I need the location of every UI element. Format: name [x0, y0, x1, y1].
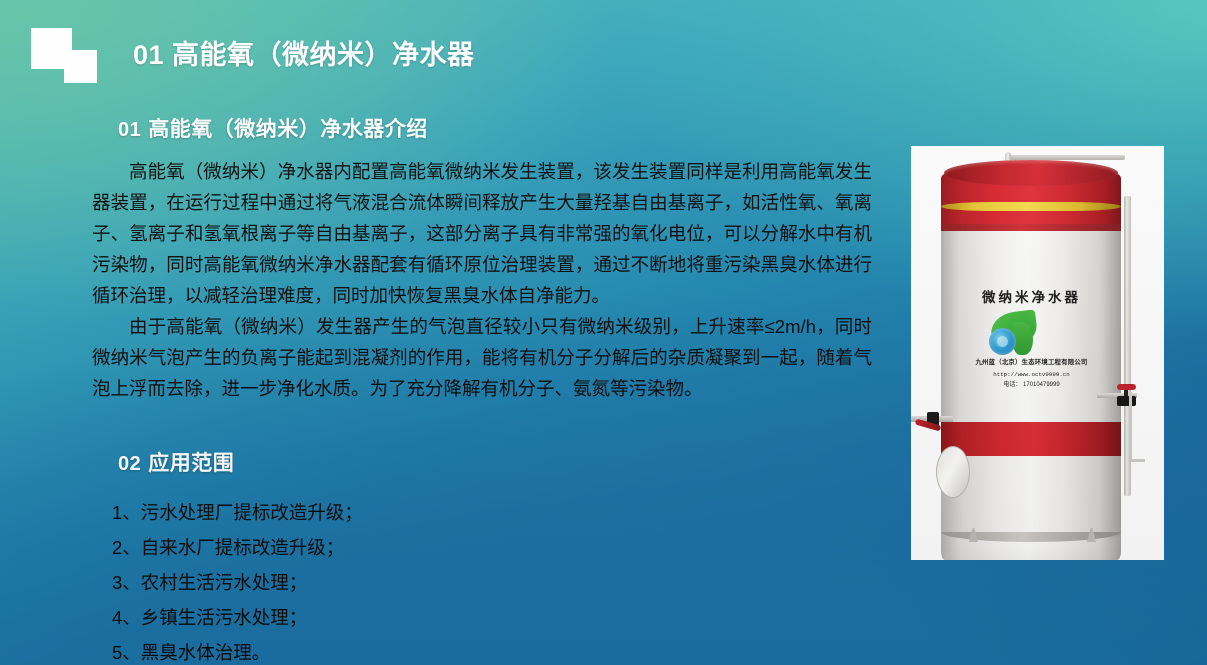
- list-item: 1、污水处理厂提标改造升级；: [112, 495, 632, 530]
- tank-lid: [944, 160, 1118, 186]
- paragraph-2: 由于高能氧（微纳米）发生器产生的气泡直径较小只有微纳米级别，上升速率≤2m/h，…: [92, 311, 872, 404]
- tank-yellow-band: [941, 202, 1121, 211]
- section-number-02: 02: [118, 453, 141, 475]
- list-item: 2、自来水厂提标改造升级；: [112, 530, 632, 565]
- application-scope-list: 1、污水处理厂提标改造升级； 2、自来水厂提标改造升级； 3、农村生活污水处理；…: [112, 495, 632, 665]
- section-title-02: 应用范围: [148, 452, 234, 475]
- tank-company-name: 九州蓝（北京）生态环境工程有限公司: [949, 358, 1114, 368]
- logo-square-small: [64, 50, 97, 83]
- section-heading-02: 02应用范围: [118, 447, 234, 477]
- two-squares-logo-icon: [31, 28, 101, 83]
- tank-bottom-red-band: [941, 422, 1121, 456]
- tank-lower-red-stripe: [941, 224, 1121, 231]
- tank-website-url: http://www.octv9999.cn: [949, 370, 1114, 379]
- tank-telephone: 电话： 17010479999: [949, 381, 1114, 390]
- left-valve: [911, 408, 953, 434]
- tank-label-text: 微纳米净水器: [949, 286, 1114, 306]
- body-text-block: 高能氧（微纳米）净水器内配置高能氧微纳米发生装置，该发生装置同样是利用高能氧发生…: [92, 156, 872, 404]
- product-photo: 微纳米净水器 九州蓝（北京）生态环境工程有限公司 http://www.octv…: [911, 146, 1164, 560]
- tank-manhole-hatch: [936, 446, 970, 498]
- water-purifier-tank-illustration: 微纳米净水器 九州蓝（北京）生态环境工程有限公司 http://www.octv…: [911, 146, 1164, 560]
- list-item: 5、黑臭水体治理。: [112, 635, 632, 665]
- section-number-01: 01: [118, 119, 141, 141]
- water-swirl-icon: [989, 328, 1016, 355]
- page-title: 01 高能氧（微纳米）净水器: [133, 33, 475, 72]
- pipe-bracket: [1129, 392, 1145, 462]
- paragraph-1: 高能氧（微纳米）净水器内配置高能氧微纳米发生装置，该发生装置同样是利用高能氧发生…: [92, 156, 872, 311]
- list-item: 4、乡镇生活污水处理；: [112, 600, 632, 635]
- section-title-01: 高能氧（微纳米）净水器介绍: [148, 118, 428, 141]
- list-item: 3、农村生活污水处理；: [112, 565, 632, 600]
- slide-canvas: 01 高能氧（微纳米）净水器 01高能氧（微纳米）净水器介绍 高能氧（微纳米）净…: [0, 0, 1207, 665]
- leaf-shape-secondary: [1013, 322, 1033, 355]
- company-leaf-logo-icon: [983, 312, 1039, 356]
- section-heading-01: 01高能氧（微纳米）净水器介绍: [118, 113, 428, 143]
